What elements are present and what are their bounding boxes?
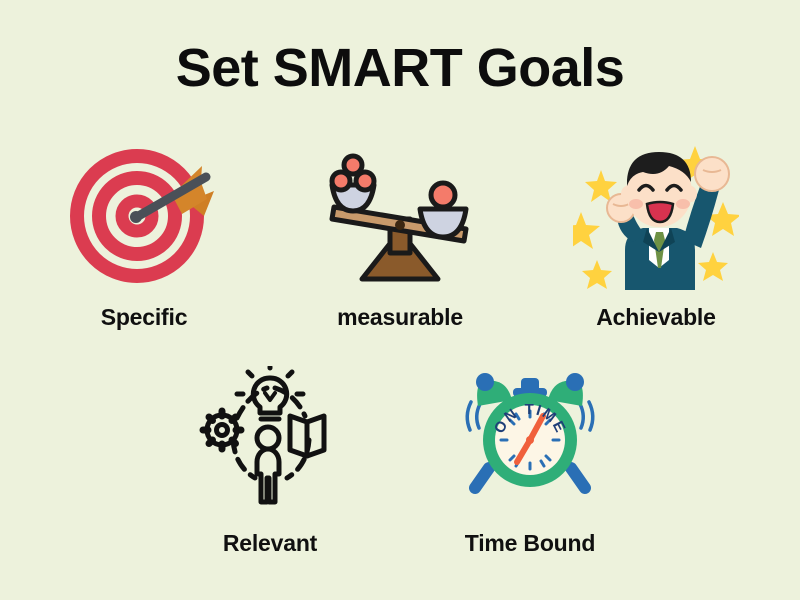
- balance-scale-icon: [320, 141, 480, 289]
- target-arrow-icon: [69, 144, 219, 286]
- person-idea-gear-book-icon: [197, 366, 343, 506]
- smart-item-time-bound[interactable]: ON TIME Time Bound: [430, 362, 630, 557]
- smart-row-bottom: Relevant: [150, 362, 650, 557]
- achievable-art: [573, 140, 739, 290]
- time-bound-label: Time Bound: [465, 530, 595, 557]
- specific-label: Specific: [101, 304, 188, 331]
- specific-art: [69, 140, 219, 290]
- achievable-label: Achievable: [596, 304, 715, 331]
- cheering-businessman-icon: [573, 140, 739, 290]
- smart-item-measurable[interactable]: measurable: [300, 140, 500, 331]
- measurable-label: measurable: [337, 304, 463, 331]
- smart-row-top: Specific: [40, 140, 760, 331]
- time-bound-art: ON TIME: [455, 362, 605, 510]
- relevant-label: Relevant: [223, 530, 317, 557]
- smart-item-relevant[interactable]: Relevant: [170, 362, 370, 557]
- smart-item-specific[interactable]: Specific: [44, 140, 244, 331]
- measurable-art: [320, 140, 480, 290]
- relevant-art: [197, 362, 343, 510]
- smart-item-achievable[interactable]: Achievable: [556, 140, 756, 331]
- smart-goals-poster: Set SMART Goals Specific: [0, 0, 800, 600]
- page-title: Set SMART Goals: [0, 40, 800, 97]
- alarm-clock-icon: ON TIME: [455, 366, 605, 506]
